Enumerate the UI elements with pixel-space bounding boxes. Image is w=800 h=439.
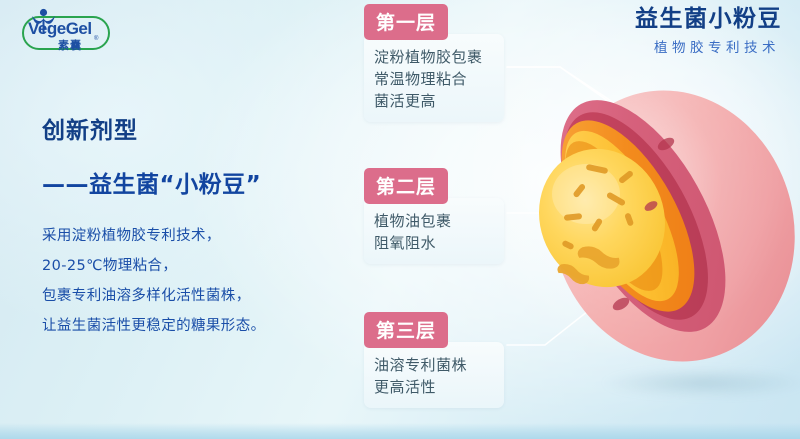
- layer-card-line: 阻氧阻水: [374, 232, 494, 254]
- layer-card-line: 更高活性: [374, 376, 494, 398]
- description-line: 包裹专利油溶多样化活性菌株，: [42, 281, 342, 311]
- product-tagline: 植物胶专利技术: [635, 40, 782, 56]
- layer-card-body-3: 油溶专利菌株 更高活性: [364, 342, 504, 408]
- bottom-band: [0, 423, 800, 439]
- layer-card-1[interactable]: 第一层 淀粉植物胶包裹 常温物理粘合 菌活更高: [364, 4, 504, 122]
- page-title: 创新剂型: [42, 118, 342, 146]
- layer-card-body-2: 植物油包裹 阻氧阻水: [364, 198, 504, 264]
- description-line: 20-25℃物理粘合，: [42, 251, 342, 281]
- layer-badge-3: 第三层: [364, 312, 448, 348]
- layer-card-line: 淀粉植物胶包裹: [374, 46, 494, 68]
- description-line: 让益生菌活性更稳定的糖果形态。: [42, 311, 342, 341]
- layer-card-line: 油溶专利菌株: [374, 354, 494, 376]
- infographic-canvas: VegeGel 素囊 ® 创新剂型 ——益生菌“小粉豆” 采用淀粉植物胶专利技术…: [0, 0, 800, 439]
- layer-badge-2: 第二层: [364, 168, 448, 204]
- layer-card-body-1: 淀粉植物胶包裹 常温物理粘合 菌活更高: [364, 34, 504, 122]
- layer-card-line: 菌活更高: [374, 90, 494, 112]
- logo-chinese-name: 素囊: [44, 37, 96, 53]
- product-title-block: 益生菌小粉豆 植物胶专利技术: [635, 6, 782, 56]
- layer-card-3[interactable]: 第三层 油溶专利菌株 更高活性: [364, 312, 504, 408]
- description-list: 采用淀粉植物胶专利技术， 20-25℃物理粘合， 包裹专利油溶多样化活性菌株， …: [42, 221, 342, 341]
- cutaway-sphere-illustration: [528, 56, 800, 386]
- layer-card-line: 植物油包裹: [374, 210, 494, 232]
- brand-logo[interactable]: VegeGel 素囊 ®: [14, 8, 118, 56]
- logo-trademark-mark: ®: [94, 36, 98, 42]
- layer-card-2[interactable]: 第二层 植物油包裹 阻氧阻水: [364, 168, 504, 264]
- left-text-block: 创新剂型 ——益生菌“小粉豆” 采用淀粉植物胶专利技术， 20-25℃物理粘合，…: [42, 118, 342, 341]
- layer-card-line: 常温物理粘合: [374, 68, 494, 90]
- page-subtitle: ——益生菌“小粉豆”: [42, 172, 342, 200]
- description-line: 采用淀粉植物胶专利技术，: [42, 221, 342, 251]
- product-name: 益生菌小粉豆: [635, 6, 782, 34]
- layer-badge-1: 第一层: [364, 4, 448, 40]
